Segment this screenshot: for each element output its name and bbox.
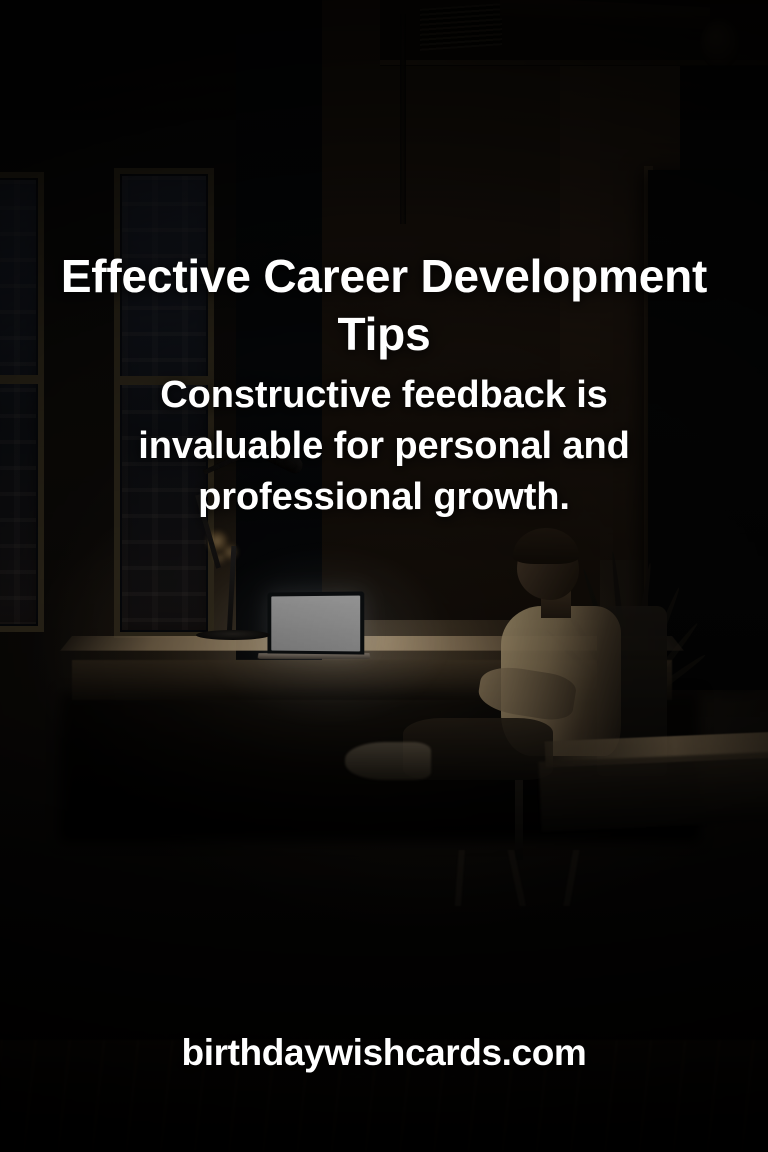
footer-website-url: birthdaywishcards.com [0,1032,768,1074]
text-overlay: Effective Career Development Tips Constr… [0,0,768,1152]
pinterest-quote-card: Effective Career Development Tips Constr… [0,0,768,1152]
page-title: Effective Career Development Tips [30,248,738,364]
subtitle-text: Constructive feedback is invaluable for … [80,370,688,523]
